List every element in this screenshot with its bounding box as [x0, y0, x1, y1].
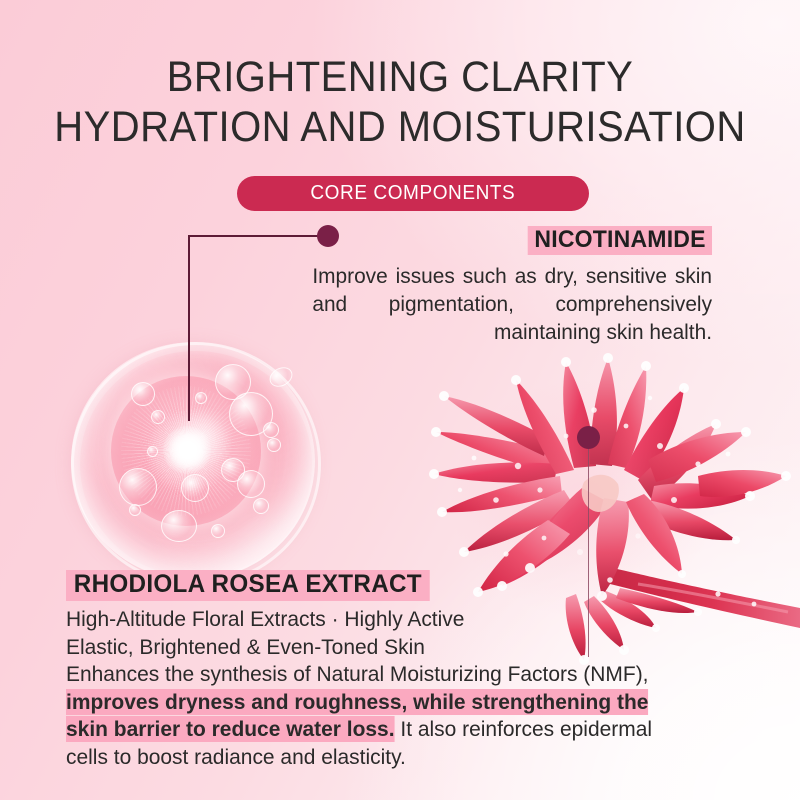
rhodiola-paragraph: Enhances the synthesis of Natural Moistu… — [66, 661, 675, 771]
page-title: BRIGHTENING CLARITY HYDRATION AND MOISTU… — [0, 52, 800, 152]
rhodiola-text-a: Enhances the synthesis of Natural Moistu… — [66, 662, 649, 686]
core-components-badge: CORE COMPONENTS — [237, 176, 589, 211]
title-line-1: BRIGHTENING CLARITY — [28, 52, 772, 102]
nicotinamide-callout: NICOTINAMIDE Improve issues such as dry,… — [300, 226, 712, 346]
rhodiola-line-2: Elastic, Brightened & Even-Toned Skin — [66, 634, 675, 662]
nicotinamide-body: Improve issues such as dry, sensitive sk… — [312, 262, 712, 346]
leader-line-vertical — [188, 235, 190, 421]
rhodiola-heading: RHODIOLA ROSEA EXTRACT — [66, 570, 430, 601]
core-components-label: CORE COMPONENTS — [311, 182, 516, 205]
rhodiola-callout: RHODIOLA ROSEA EXTRACT High-Altitude Flo… — [66, 570, 691, 771]
serum-droplet-image — [63, 338, 323, 583]
callout-dot-rhodiola — [577, 426, 600, 449]
rhodiola-line-1: High-Altitude Floral Extracts · Highly A… — [66, 606, 675, 634]
nicotinamide-heading: NICOTINAMIDE — [527, 226, 712, 255]
droplet-rim — [71, 342, 321, 586]
product-ingredient-poster: BRIGHTENING CLARITY HYDRATION AND MOISTU… — [0, 0, 800, 800]
rhodiola-body: High-Altitude Floral Extracts · Highly A… — [66, 606, 675, 771]
title-line-2: HYDRATION AND MOISTURISATION — [28, 102, 772, 152]
